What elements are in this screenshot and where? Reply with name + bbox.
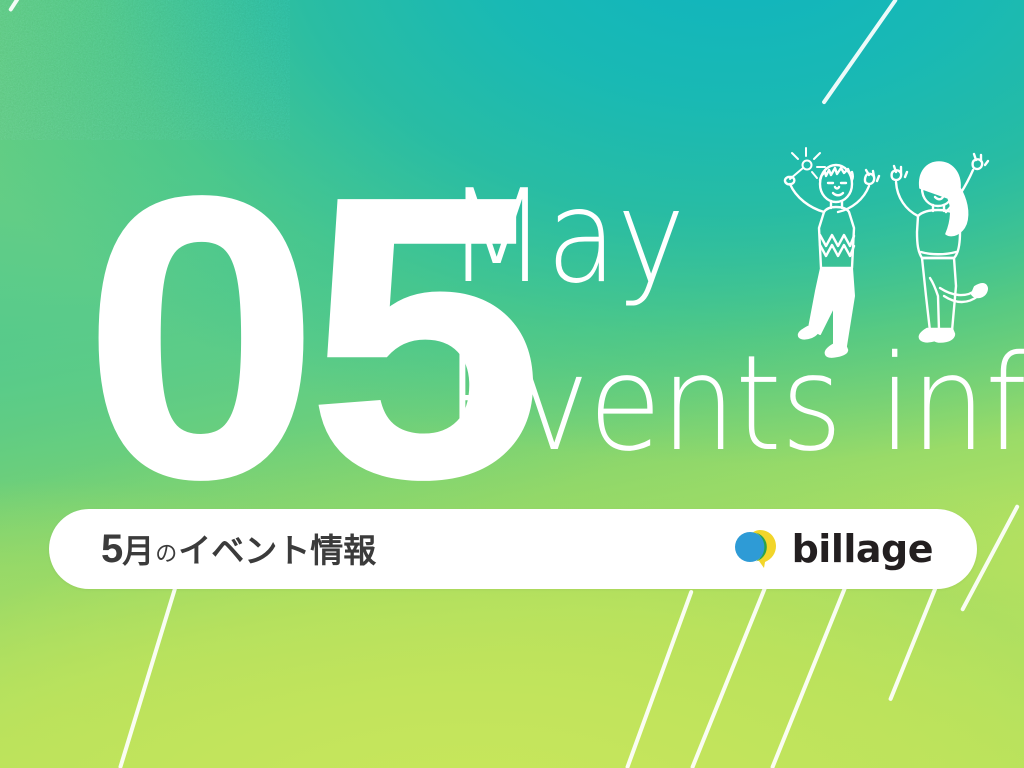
brand-lockup: billage (734, 528, 933, 570)
japanese-title-rest: イベント情報 (178, 534, 376, 567)
japanese-title-number: 5 (101, 529, 122, 569)
event-poster: 05 May Events info (0, 0, 1024, 768)
month-label: May (447, 174, 685, 302)
title-banner: 5 月 の イベント情報 billage (49, 509, 977, 589)
headline-events-info: Events info (445, 338, 1024, 470)
japanese-title-particle: の (154, 543, 178, 565)
japanese-title-month: 月 (122, 535, 154, 567)
billage-logo-icon (734, 528, 778, 570)
brand-name: billage (792, 530, 933, 568)
japanese-title: 5 月 の イベント情報 (101, 529, 376, 569)
